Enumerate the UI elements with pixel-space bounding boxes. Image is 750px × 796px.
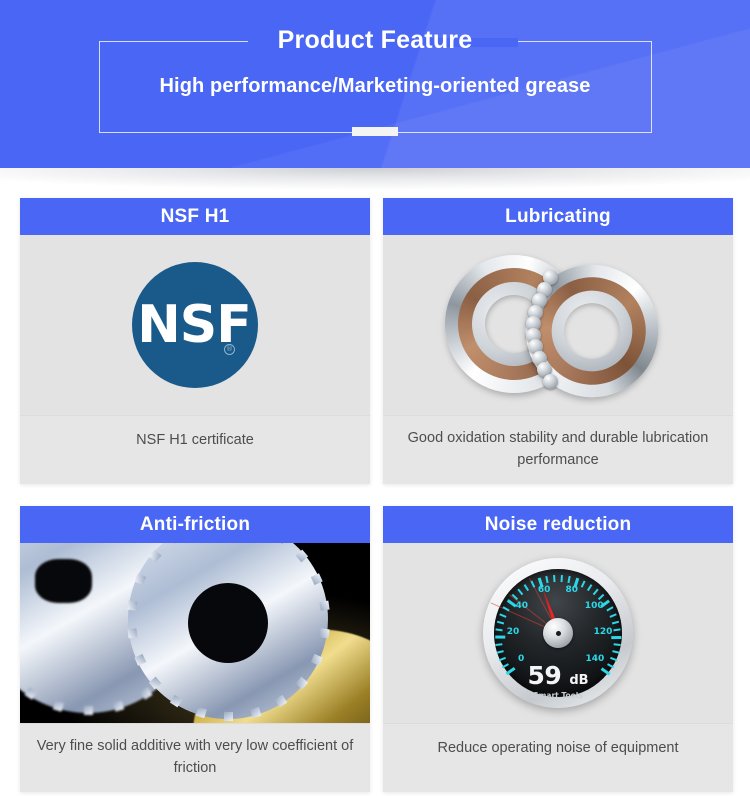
gauge-scale-label: 60: [538, 585, 551, 595]
gauge-scale-label: 140: [585, 654, 604, 664]
bearing-ball: [543, 374, 558, 389]
gauge-scale-label: 0: [518, 654, 524, 664]
gauge-scale-label: 80: [566, 585, 579, 595]
gauge-tick-minor: [545, 576, 548, 583]
db-gauge: 59 dB Smart Tools 020406080100120140: [483, 558, 633, 708]
nsf-logo-circle: NSF ®: [132, 262, 258, 388]
gauge-brand-label: Smart Tools: [494, 691, 622, 700]
gear-center-hole: [188, 583, 268, 663]
gear-tooth: [127, 600, 137, 610]
gauge-scale-label: 40: [516, 601, 529, 611]
gauge-scale-label: 20: [507, 627, 520, 637]
metal-gears-photo: [20, 543, 370, 723]
feature-row-1: NSF H1 NSF ® NSF H1 certificate Lubricat…: [20, 198, 733, 484]
gauge-tick-minor: [612, 650, 619, 654]
nsf-logo-image: NSF ®: [20, 235, 370, 415]
page-title: Product Feature: [0, 24, 750, 56]
gauge-tick-minor: [499, 613, 506, 617]
card-title-lubricating: Lubricating: [383, 198, 733, 235]
banner-drop-shadow: [0, 168, 750, 190]
gauge-tick-major: [495, 636, 505, 639]
gauge-tick-minor: [581, 580, 586, 587]
bearing-illustration: [433, 250, 683, 400]
registered-trademark-icon: ®: [224, 344, 235, 355]
feature-card-lubricating[interactable]: Lubricating Good oxidation st: [383, 198, 733, 484]
page-subtitle: High performance/Marketing-oriented grea…: [0, 73, 750, 99]
gauge-tick-minor: [530, 580, 535, 587]
card-title-anti-friction: Anti-friction: [20, 506, 370, 543]
gauge-tick-minor: [598, 594, 604, 600]
gauge-tick-minor: [495, 643, 502, 646]
gear-tooth: [224, 712, 233, 721]
gauge-face: 59 dB Smart Tools 020406080100120140: [494, 569, 622, 697]
card-title-noise-reduction: Noise reduction: [383, 506, 733, 543]
gauge-tick-minor: [553, 575, 555, 582]
gear-tooth: [127, 628, 137, 638]
gauge-tick-minor: [497, 621, 504, 625]
gauge-tick-minor: [606, 606, 613, 611]
feature-card-grid: NSF H1 NSF ® NSF H1 certificate Lubricat…: [20, 198, 733, 792]
gear-tooth: [250, 706, 261, 717]
gauge-tick-minor: [497, 650, 504, 654]
card-title-nsf-h1: NSF H1: [20, 198, 370, 235]
ball-bearing-photo: [383, 235, 733, 415]
gauge-tick-minor: [503, 606, 510, 611]
card-caption-noise-reduction: Reduce operating noise of equipment: [383, 723, 733, 773]
gauge-tick-minor: [512, 594, 518, 600]
gear-tooth: [52, 700, 63, 711]
gauge-scale-label: 120: [594, 627, 613, 637]
gears-illustration: [20, 543, 370, 723]
gauge-tick-minor: [524, 584, 529, 591]
feature-row-2: Anti-friction Very fine solid additive w…: [20, 506, 733, 792]
gauge-tick-major: [611, 636, 621, 639]
gauge-tick-minor: [609, 613, 616, 617]
gear-tooth: [195, 706, 206, 717]
gauge-tick-minor: [614, 643, 621, 646]
banner-accent-dash: [352, 127, 398, 136]
gauge-tick-minor: [587, 584, 592, 591]
gauge-unit: dB: [569, 673, 588, 688]
gauge-tick-minor: [567, 576, 570, 583]
gauge-tick-minor: [560, 575, 562, 582]
gauge-tick-minor: [613, 628, 620, 631]
gauge-tick-minor: [593, 589, 599, 596]
gear-spoke-hole: [35, 559, 92, 603]
page-banner: Product Feature High performance/Marketi…: [0, 0, 750, 168]
gauge-tick-minor: [517, 589, 523, 596]
gauge-scale-label: 100: [585, 601, 604, 611]
bearing-ball-row: [517, 264, 577, 390]
card-caption-nsf-h1: NSF H1 certificate: [20, 415, 370, 465]
card-caption-anti-friction: Very fine solid additive with very low c…: [20, 723, 370, 792]
gear-tooth: [319, 628, 329, 638]
gear-tooth: [319, 600, 329, 610]
gauge-hub: [543, 618, 573, 648]
feature-card-anti-friction[interactable]: Anti-friction Very fine solid additive w…: [20, 506, 370, 792]
card-caption-lubricating: Good oxidation stability and durable lub…: [383, 415, 733, 484]
nsf-logo-text: NSF: [137, 299, 251, 351]
gear-tooth: [84, 706, 93, 715]
gauge-value: 59: [527, 661, 561, 690]
feature-card-noise-reduction[interactable]: Noise reduction 59 dB Smart Too: [383, 506, 733, 792]
gear-tooth: [113, 700, 124, 711]
sound-level-meter-photo: 59 dB Smart Tools 020406080100120140: [383, 543, 733, 723]
gauge-tick-minor: [612, 621, 619, 625]
feature-card-nsf-h1[interactable]: NSF H1 NSF ® NSF H1 certificate: [20, 198, 370, 484]
gauge-reading: 59 dB: [494, 661, 622, 690]
gauge-tick-minor: [495, 628, 502, 631]
